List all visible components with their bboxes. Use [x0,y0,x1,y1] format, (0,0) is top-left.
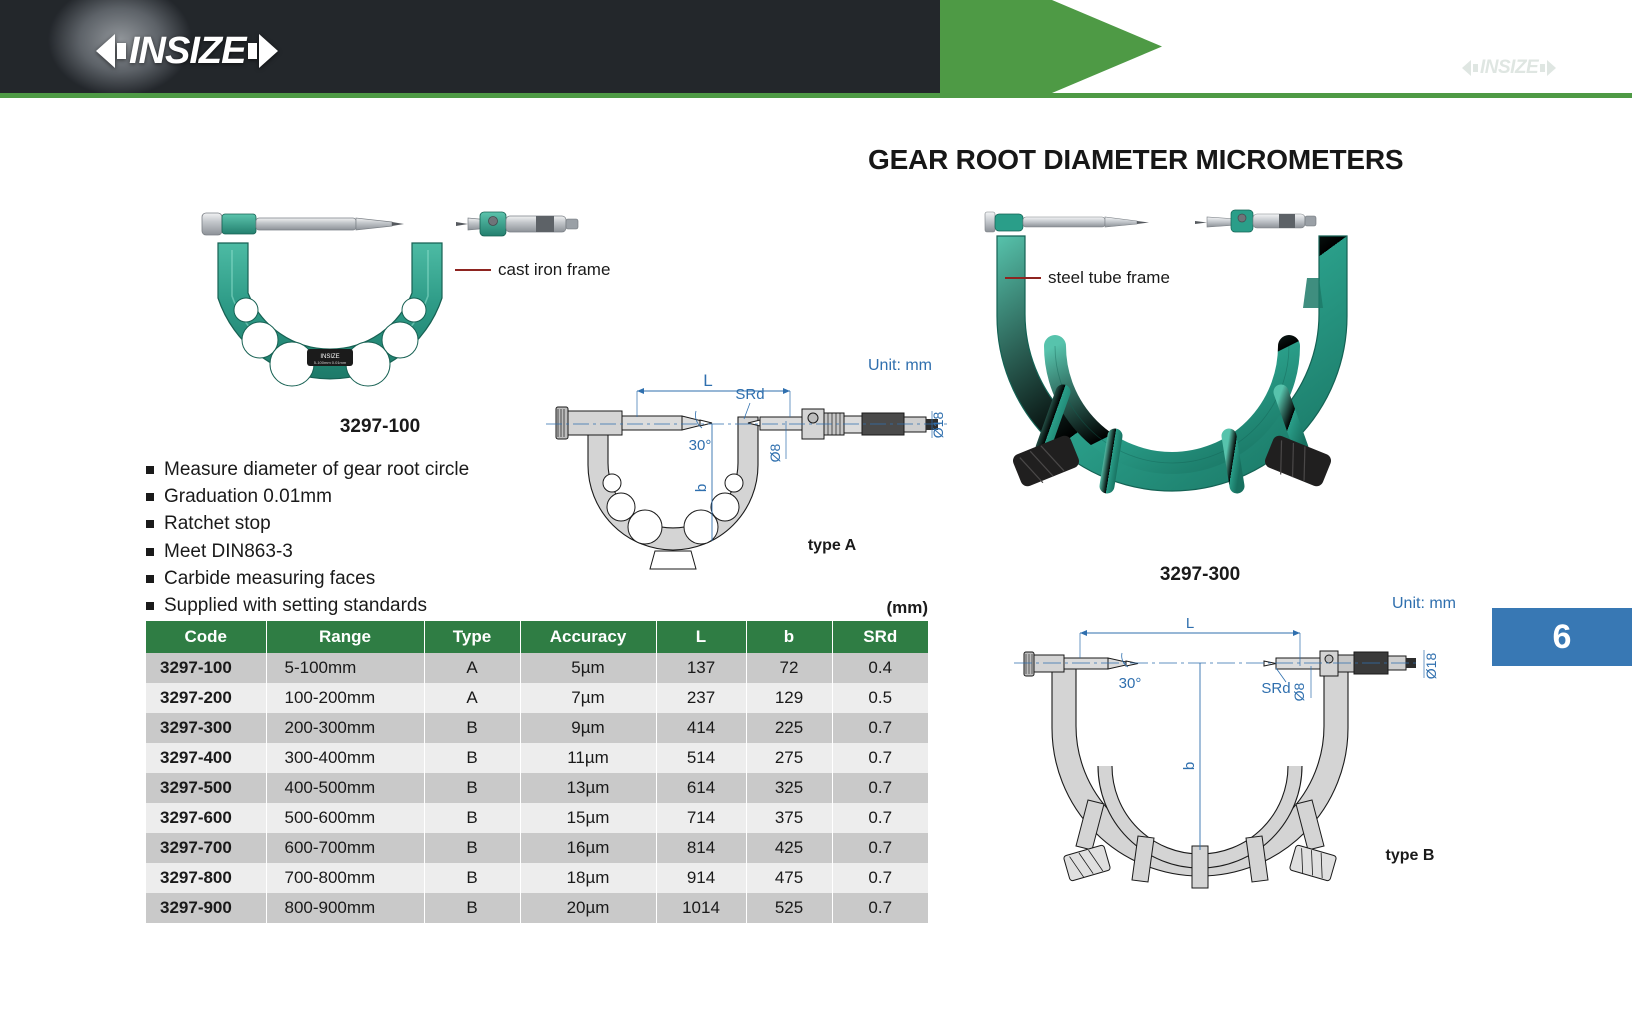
table-row: 3297-900 800-900mm B 20µm 1014 525 0.7 [146,893,928,923]
cell-b: 425 [746,833,832,863]
column-header-b: b [746,621,832,653]
cell-accuracy: 18µm [520,863,656,893]
feature-label: Ratchet stop [164,512,271,535]
logo-left-bar-icon [117,43,126,59]
cell-code: 3297-600 [146,803,266,833]
svg-text:Ø8: Ø8 [767,443,783,462]
insize-watermark: INSIZE [1462,58,1556,77]
svg-text:SRd: SRd [1261,680,1290,697]
callout-leader-line-icon [455,269,491,271]
svg-text:L: L [703,371,712,390]
cell-accuracy: 9µm [520,713,656,743]
svg-text:Unit: mm: Unit: mm [1392,595,1456,612]
cell-accuracy: 11µm [520,743,656,773]
square-bullet-icon [146,575,154,583]
svg-text:Ø18: Ø18 [1423,653,1439,680]
cell-code: 3297-400 [146,743,266,773]
cell-srd: 0.7 [832,743,928,773]
cell-type: B [424,893,520,923]
insize-logo: INSIZE [96,32,278,70]
cell-code: 3297-300 [146,713,266,743]
watermark-left-arrow-icon [1462,60,1471,76]
column-header-srd: SRd [832,621,928,653]
column-header-range: Range [266,621,424,653]
cell-l: 714 [656,803,746,833]
cell-b: 72 [746,653,832,683]
cell-b: 325 [746,773,832,803]
watermark-text: INSIZE [1480,58,1538,77]
callout-leader-line-icon [1005,277,1041,279]
cell-srd: 0.7 [832,713,928,743]
cell-accuracy: 20µm [520,893,656,923]
cell-accuracy: 15µm [520,803,656,833]
cell-b: 375 [746,803,832,833]
svg-text:L: L [1186,615,1194,632]
table-unit-note: (mm) [0,598,928,618]
square-bullet-icon [146,520,154,528]
cell-type: B [424,803,520,833]
callout-steel-tube-frame: steel tube frame [1005,268,1170,288]
table-row: 3297-400 300-400mm B 11µm 514 275 0.7 [146,743,928,773]
type-b-diagram: L b 30° SRd Ø8 Ø18 Unit: mm type B [980,588,1510,923]
svg-text:Unit: mm: Unit: mm [868,357,932,374]
cell-srd: 0.5 [832,683,928,713]
cell-code: 3297-900 [146,893,266,923]
feature-label: Graduation 0.01mm [164,485,332,508]
callout-cast-iron-frame: cast iron frame [455,260,610,280]
micrometer-steel-tube-illustration [955,196,1445,526]
cell-range: 100-200mm [266,683,424,713]
cell-code: 3297-800 [146,863,266,893]
column-header-code: Code [146,621,266,653]
cell-srd: 0.7 [832,773,928,803]
cell-code: 3297-100 [146,653,266,683]
cell-type: B [424,863,520,893]
column-header-accuracy: Accuracy [520,621,656,653]
square-bullet-icon [146,466,154,474]
product-caption-2: 3297-300 [955,564,1445,586]
feature-label: Meet DIN863-3 [164,540,293,563]
cell-type: B [424,833,520,863]
table-row: 3297-500 400-500mm B 13µm 614 325 0.7 [146,773,928,803]
cell-srd: 0.4 [832,653,928,683]
cell-srd: 0.7 [832,893,928,923]
cell-range: 600-700mm [266,833,424,863]
cell-code: 3297-500 [146,773,266,803]
cell-accuracy: 7µm [520,683,656,713]
cell-range: 300-400mm [266,743,424,773]
cell-srd: 0.7 [832,863,928,893]
cell-l: 1014 [656,893,746,923]
cell-b: 525 [746,893,832,923]
watermark-right-bar-icon [1540,64,1545,72]
svg-text:30°: 30° [689,437,712,454]
logo-wordmark: INSIZE [129,32,245,70]
table-row: 3297-200 100-200mm A 7µm 237 129 0.5 [146,683,928,713]
table-header-row: Code Range Type Accuracy L b SRd [146,621,928,653]
cell-srd: 0.7 [832,833,928,863]
logo-right-arrow-icon [259,34,278,68]
svg-text:30°: 30° [1119,675,1142,692]
cell-code: 3297-200 [146,683,266,713]
cell-range: 700-800mm [266,863,424,893]
page-header: INSIZE [0,0,1632,98]
cell-range: 500-600mm [266,803,424,833]
page-number-tab: 6 [1492,608,1632,666]
feature-label: Carbide measuring faces [164,567,375,590]
table-row: 3297-600 500-600mm B 15µm 714 375 0.7 [146,803,928,833]
callout-label-2: steel tube frame [1048,268,1170,288]
cell-b: 225 [746,713,832,743]
cell-b: 275 [746,743,832,773]
square-bullet-icon [146,493,154,501]
table-row: 3297-800 700-800mm B 18µm 914 475 0.7 [146,863,928,893]
cell-type: B [424,743,520,773]
cell-l: 237 [656,683,746,713]
cell-accuracy: 5µm [520,653,656,683]
table-row: 3297-300 200-300mm B 9µm 414 225 0.7 [146,713,928,743]
cell-l: 814 [656,833,746,863]
technical-drawing-type-b: L b 30° SRd Ø8 Ø18 Unit: mm type B [980,588,1510,918]
cell-range: 200-300mm [266,713,424,743]
callout-label-1: cast iron frame [498,260,610,280]
svg-text:Ø18: Ø18 [930,412,946,439]
svg-text:5-100mm 0.01mm: 5-100mm 0.01mm [314,360,347,365]
logo-right-bar-icon [248,43,257,59]
specification-table: Code Range Type Accuracy L b SRd 3297-10… [146,621,928,923]
page-title: GEAR ROOT DIAMETER MICROMETERS [868,144,1403,176]
header-green-chevron [940,0,1170,93]
cell-type: A [424,653,520,683]
table-row: 3297-700 600-700mm B 16µm 814 425 0.7 [146,833,928,863]
technical-drawing-type-a: L b 30° SRd Ø8 Ø18 Unit: mm type A [500,355,950,585]
svg-text:SRd: SRd [735,386,764,403]
svg-text:type A: type A [808,537,857,554]
cell-l: 414 [656,713,746,743]
cell-l: 137 [656,653,746,683]
cell-type: A [424,683,520,713]
column-header-type: Type [424,621,520,653]
cell-range: 400-500mm [266,773,424,803]
logo-left-arrow-icon [96,34,115,68]
watermark-left-bar-icon [1473,64,1478,72]
table-row: 3297-100 5-100mm A 5µm 137 72 0.4 [146,653,928,683]
header-green-rule [0,93,1632,98]
cell-l: 914 [656,863,746,893]
svg-text:type B: type B [1386,847,1435,864]
cell-range: 800-900mm [266,893,424,923]
cell-b: 475 [746,863,832,893]
square-bullet-icon [146,548,154,556]
cell-srd: 0.7 [832,803,928,833]
cell-l: 514 [656,743,746,773]
svg-text:b: b [693,484,710,492]
svg-text:Ø8: Ø8 [1291,682,1307,701]
feature-label: Measure diameter of gear root circle [164,458,469,481]
cell-code: 3297-700 [146,833,266,863]
cell-type: B [424,713,520,743]
page-number: 6 [1553,618,1572,657]
svg-text:b: b [1181,762,1198,770]
cell-b: 129 [746,683,832,713]
cell-type: B [424,773,520,803]
column-header-l: L [656,621,746,653]
cell-l: 614 [656,773,746,803]
cell-accuracy: 13µm [520,773,656,803]
cell-range: 5-100mm [266,653,424,683]
product-photo-3297-300: 3297-300 [955,196,1445,516]
type-a-diagram: L b 30° SRd Ø8 Ø18 Unit: mm type A [500,355,950,590]
cell-accuracy: 16µm [520,833,656,863]
watermark-right-arrow-icon [1547,60,1556,76]
